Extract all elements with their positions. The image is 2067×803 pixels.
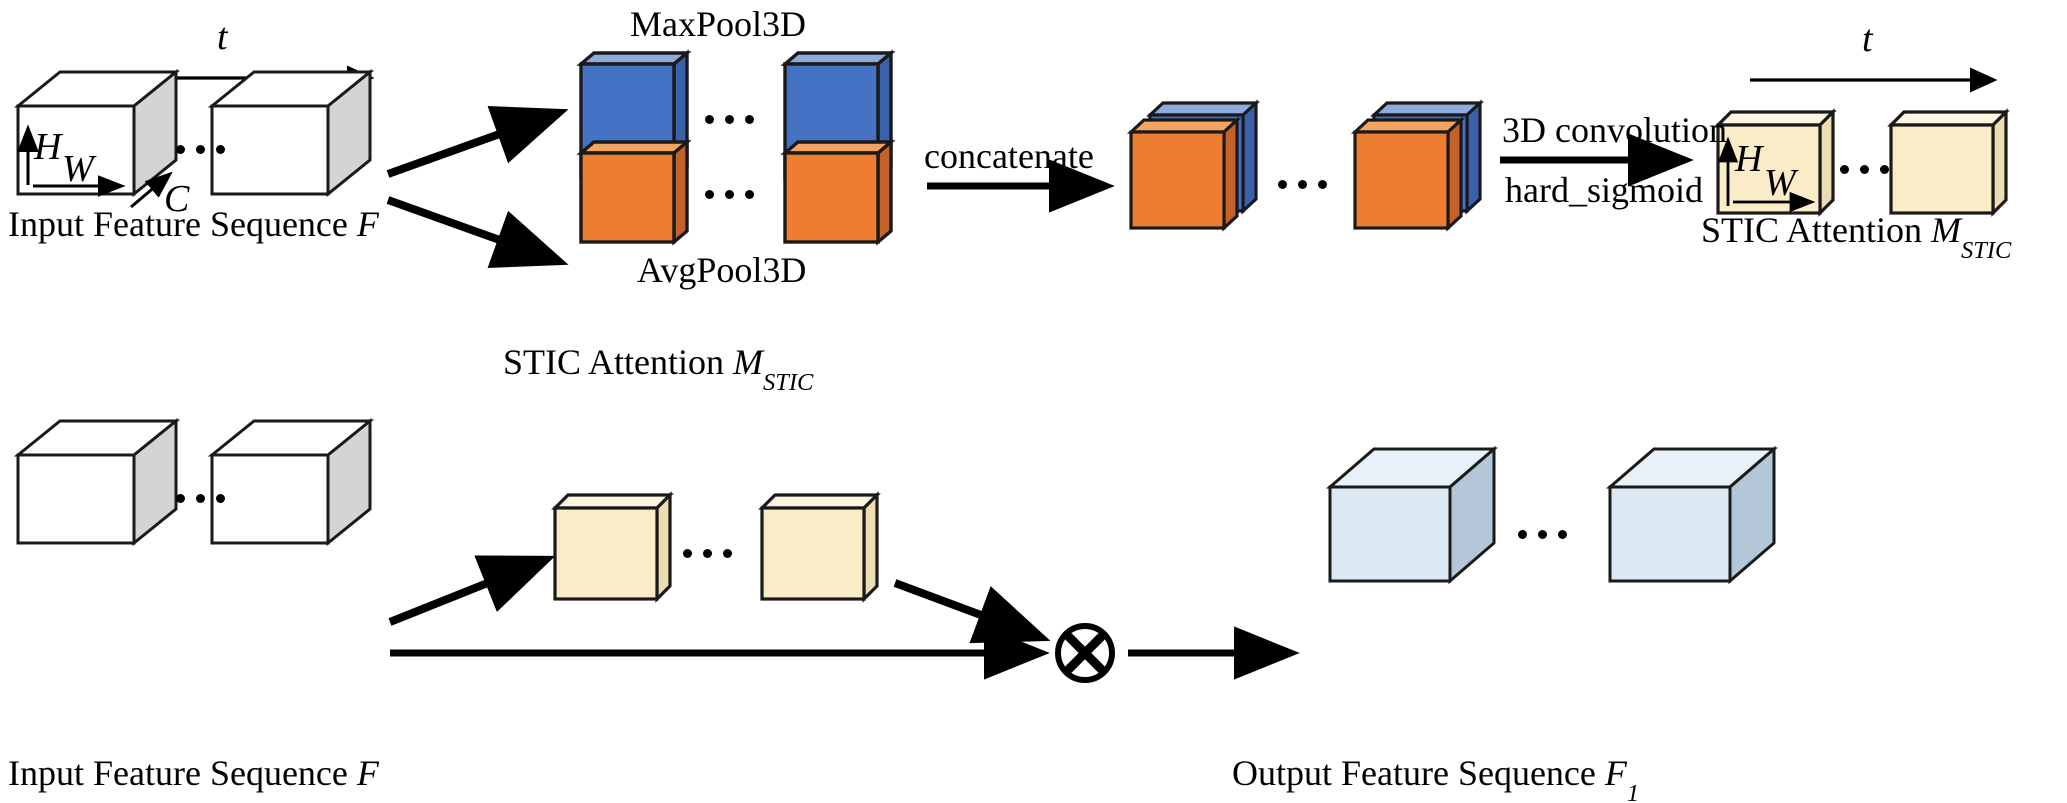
input-cube-top-2	[212, 72, 370, 194]
input-caption-text-bottom: Input Feature Sequence	[8, 753, 357, 793]
stic-attention-caption-bottom: STIC Attention MSTIC	[503, 344, 813, 380]
attention-slab-bottom-2	[762, 495, 877, 599]
input-caption-symbol-bottom: F	[357, 753, 379, 793]
ellipsis-attention-bottom	[683, 549, 732, 558]
time-axis-label-top-right: t	[1862, 20, 1873, 58]
stic-caption-subscript-bottom: STIC	[763, 369, 813, 396]
concatenate-label: concatenate	[924, 138, 1094, 174]
output-caption-symbol: F	[1605, 753, 1627, 793]
ellipsis-avgpool	[705, 190, 754, 199]
maxpool-slab-1	[581, 53, 687, 178]
stic-attention-caption-top: STIC Attention MSTIC	[1701, 212, 2011, 248]
stic-attention-slab-top-2	[1891, 112, 2006, 213]
conv-label-top: 3D convolution	[1502, 112, 1727, 148]
attention-slab-bottom-1	[555, 495, 670, 599]
width-label-top-right: W	[1764, 164, 1796, 202]
input-cube-bottom-1	[18, 421, 176, 543]
split-arrow-to-maxpool	[388, 113, 558, 174]
ellipsis-maxpool	[705, 115, 754, 124]
height-label-top-left: H	[34, 128, 61, 166]
height-label-top-right: H	[1735, 140, 1762, 178]
figure-canvas: t H W C Input Feature Sequence F MaxPool…	[0, 0, 2067, 803]
concat-stack-2	[1355, 103, 1480, 228]
maxpool-label: MaxPool3D	[630, 6, 806, 42]
maxpool-slab-2	[785, 53, 891, 178]
time-axis-label-top-left: t	[217, 18, 228, 56]
input-feature-sequence-caption-bottom: Input Feature Sequence F	[8, 755, 379, 791]
width-label-top-left: W	[62, 150, 94, 188]
output-caption-subscript: 1	[1627, 780, 1639, 803]
arrow-to-attention-slabs	[390, 560, 545, 622]
ellipsis-stic-top	[1840, 165, 1889, 174]
ellipsis-bottom-input	[176, 494, 225, 503]
diagram-vector-layer	[0, 0, 2067, 803]
ellipsis-top-input	[176, 145, 225, 154]
arrow-attention-to-multiply	[895, 583, 1040, 637]
split-arrow-to-avgpool	[388, 200, 558, 261]
output-caption-text: Output Feature Sequence	[1232, 753, 1605, 793]
stic-caption-text-top: STIC Attention	[1701, 210, 1931, 250]
stic-caption-text-bottom: STIC Attention	[503, 342, 733, 382]
stic-caption-symbol-bottom: M	[733, 342, 763, 382]
concat-stack-1	[1131, 103, 1256, 228]
stic-caption-symbol-top: M	[1931, 210, 1961, 250]
input-cube-bottom-2	[212, 421, 370, 543]
multiply-operator-glyph	[1058, 626, 1112, 680]
output-cube-1	[1330, 449, 1494, 581]
avgpool-slab-2	[785, 142, 891, 242]
output-feature-sequence-caption: Output Feature Sequence F1	[1232, 755, 1639, 791]
input-feature-sequence-caption-top: Input Feature Sequence F	[8, 206, 379, 242]
output-cube-2	[1610, 449, 1774, 581]
conv-label-bottom: hard_sigmoid	[1505, 172, 1703, 208]
stic-caption-subscript-top: STIC	[1961, 237, 2011, 264]
avgpool-slab-1	[581, 142, 687, 242]
ellipsis-concat	[1278, 180, 1327, 189]
ellipsis-output	[1518, 530, 1567, 539]
avgpool-label: AvgPool3D	[637, 252, 806, 288]
input-caption-text: Input Feature Sequence	[8, 204, 357, 244]
input-caption-symbol: F	[357, 204, 379, 244]
